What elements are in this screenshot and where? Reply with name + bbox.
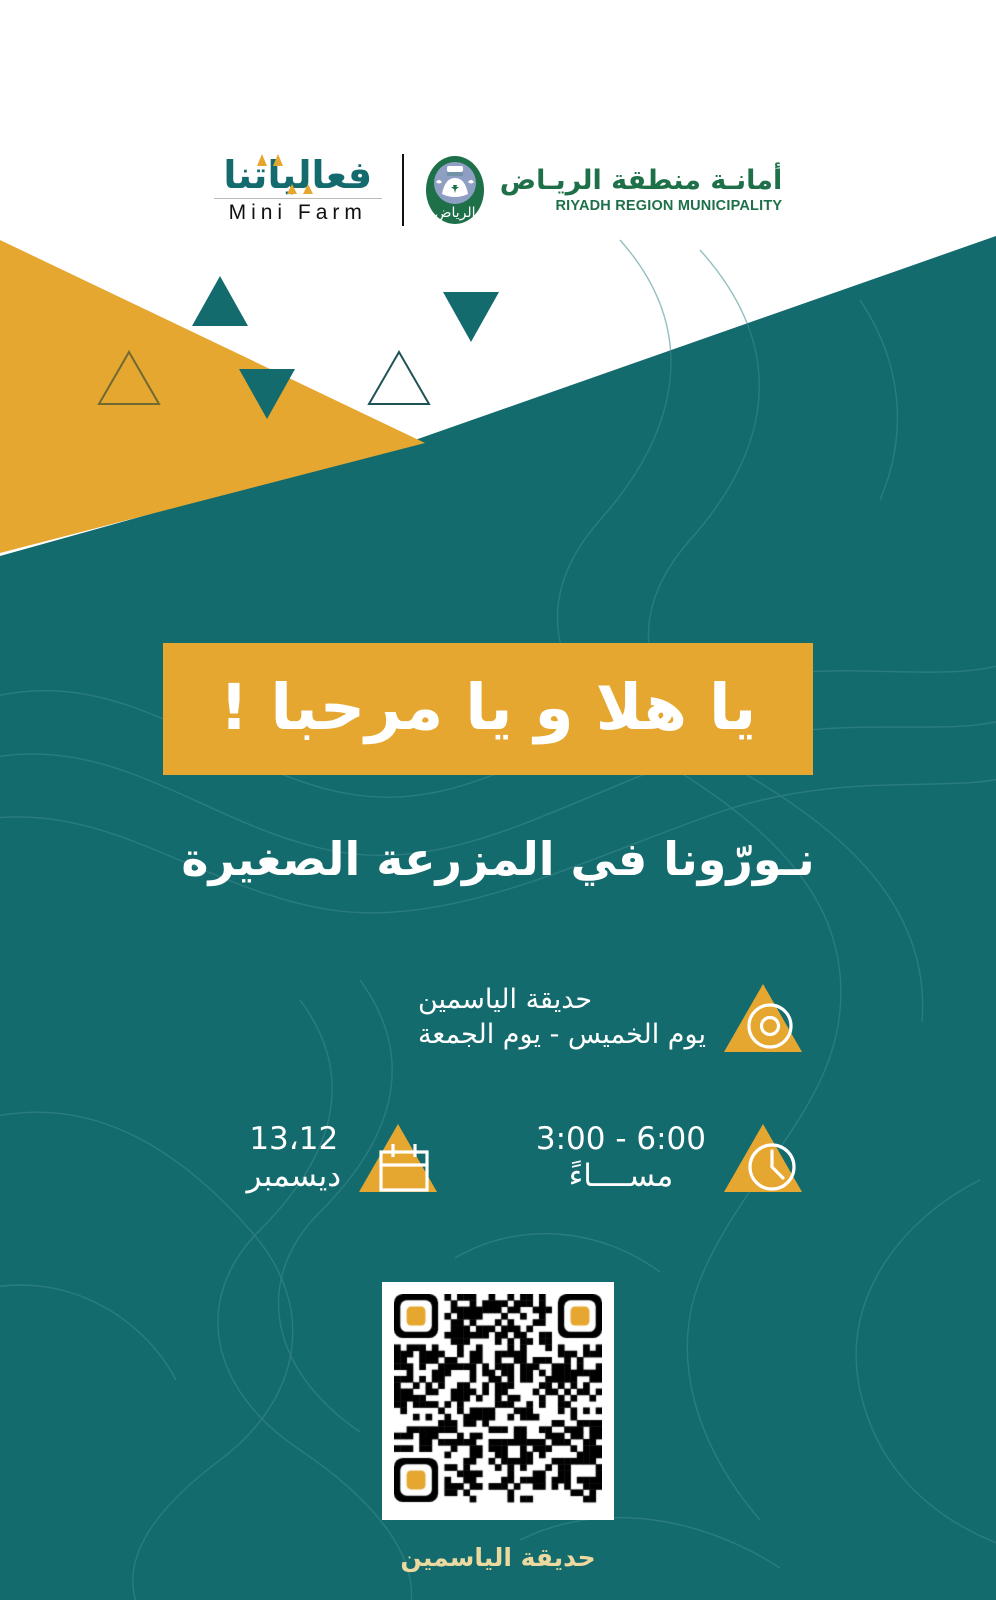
place-text: حديقة الياسمين يوم الخميس - يوم الجمعة: [418, 983, 706, 1052]
headline-text: يا هلا و يا مرحبا !: [220, 676, 757, 739]
triangle-up-solid-teal-icon: [190, 272, 250, 330]
triangle-up-outline-teal-icon: [366, 348, 432, 408]
municipality-name-arabic: أمانـة منطقة الريـاض: [500, 167, 783, 194]
qr-code-container[interactable]: [382, 1282, 614, 1520]
brand-name-english: Mini Farm: [214, 201, 382, 225]
place-name: حديقة الياسمين: [418, 983, 706, 1018]
event-poster: أمانـة منطقة الريـاض RIYADH REGION MUNIC…: [0, 0, 996, 1600]
place-days: يوم الخميس - يوم الجمعة: [418, 1018, 706, 1053]
riyadh-municipality-emblem-icon: الرياض: [424, 154, 486, 226]
date-info-row: 13،12 ديسمبر: [247, 1120, 441, 1196]
time-text: 3:00 - 6:00 مســــاءً: [536, 1121, 706, 1195]
triangle-up-outline-olive-icon: [96, 348, 162, 408]
calendar-icon: [355, 1120, 441, 1196]
header-divider: [402, 154, 404, 226]
brand-accent-triangles-top-icon: [249, 152, 293, 168]
qr-caption: حديقة الياسمين: [0, 1543, 996, 1572]
location-pin-icon: [720, 980, 806, 1056]
poster-header: أمانـة منطقة الريـاض RIYADH REGION MUNIC…: [0, 140, 996, 240]
brand-rule: [214, 198, 382, 199]
municipality-logo-text: أمانـة منطقة الريـاض RIYADH REGION MUNIC…: [500, 167, 783, 214]
brand-accent-triangles-bottom-icon: [285, 182, 319, 195]
triangle-down-solid-teal-icon: [440, 288, 502, 346]
time-period: مســــاءً: [536, 1158, 706, 1195]
headline-band: يا هلا و يا مرحبا !: [163, 643, 813, 775]
subtitle-text: نـورّونا في المزرعة الصغيرة: [0, 832, 996, 886]
municipality-logo: أمانـة منطقة الريـاض RIYADH REGION MUNIC…: [424, 154, 783, 226]
qr-code[interactable]: [394, 1294, 602, 1508]
municipality-name-english: RIYADH REGION MUNICIPALITY: [500, 199, 783, 214]
mini-farm-logo: فعالياتنا Mini Farm: [214, 156, 382, 225]
time-value: 3:00 - 6:00: [536, 1121, 706, 1158]
date-month: ديسمبر: [247, 1158, 341, 1195]
emblem-caption: الرياض: [434, 205, 475, 221]
clock-icon: [720, 1120, 806, 1196]
date-value: 13،12: [247, 1121, 341, 1158]
place-info-row: حديقة الياسمين يوم الخميس - يوم الجمعة: [418, 980, 806, 1056]
triangle-down-solid-teal-2-icon: [236, 366, 298, 424]
date-text: 13،12 ديسمبر: [247, 1121, 341, 1195]
time-info-row: 3:00 - 6:00 مســــاءً: [536, 1120, 806, 1196]
